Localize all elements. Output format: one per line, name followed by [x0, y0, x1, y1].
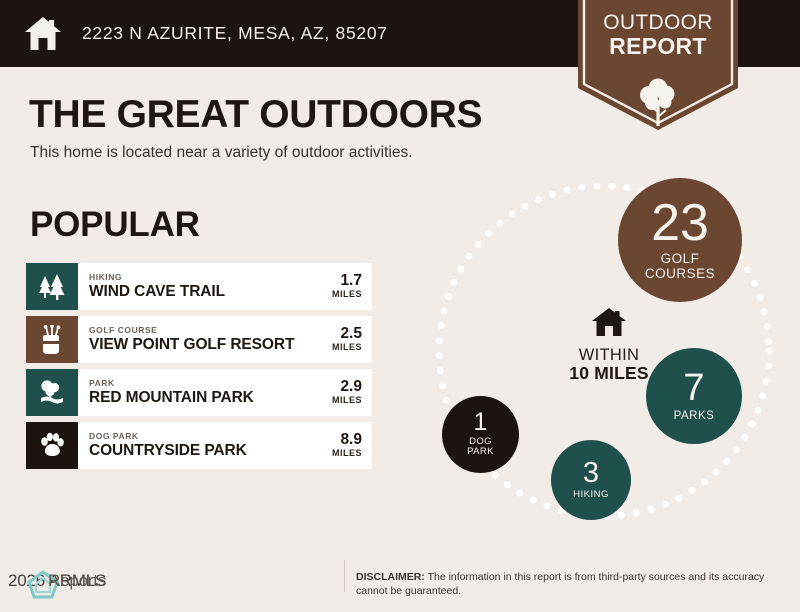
trees-icon	[37, 273, 67, 301]
list-item-distance-unit: MILES	[332, 289, 362, 301]
bubble-label-line-2: COURSES	[645, 266, 715, 281]
list-item-distance-unit: MILES	[332, 342, 362, 354]
home-icon	[529, 306, 689, 338]
list-item-category: HIKING	[89, 273, 296, 282]
list-item-icon-box	[26, 422, 78, 469]
disclaimer: DISCLAIMER: The information in this repo…	[356, 570, 776, 599]
bubble-label-line-1: GOLF	[661, 251, 700, 266]
diagram-center-label: WITHIN 10 MILES	[529, 306, 689, 384]
list-item-category: PARK	[89, 379, 296, 388]
list-item[interactable]: HIKING WIND CAVE TRAIL 1.7 MILES	[26, 263, 372, 310]
paw-print-icon	[38, 432, 66, 460]
bubble-hiking: 3 HIKING	[551, 440, 631, 520]
bubble-label-line-2: PARK	[467, 446, 494, 457]
outdoor-report-badge: OUTDOOR REPORT	[578, 0, 738, 130]
list-item-icon-box	[26, 316, 78, 363]
bubble-count: 23	[651, 199, 709, 248]
list-item-body: DOG PARK COUNTRYSIDE PARK	[78, 422, 296, 469]
list-item-distance: 8.9 MILES	[296, 422, 372, 469]
page-title: THE GREAT OUTDOORS	[29, 93, 482, 137]
brand-name: Reports	[48, 571, 106, 591]
list-item-distance: 2.9 MILES	[296, 369, 372, 416]
bubble-count: 1	[474, 411, 488, 435]
list-item-body: PARK RED MOUNTAIN PARK	[78, 369, 296, 416]
list-item-distance-unit: MILES	[332, 395, 362, 407]
list-item-distance-value: 2.9	[340, 379, 362, 395]
list-item-icon-box	[26, 263, 78, 310]
disclaimer-label: DISCLAIMER:	[356, 571, 425, 583]
list-item-distance-value: 2.5	[340, 326, 362, 342]
bubble-count: 3	[583, 460, 599, 488]
section-heading-popular: POPULAR	[30, 205, 200, 245]
list-item-name: COUNTRYSIDE PARK	[89, 443, 296, 459]
bubble-label: DOG PARK	[467, 437, 494, 458]
list-item-icon-box	[26, 369, 78, 416]
list-item-distance: 2.5 MILES	[296, 316, 372, 363]
footer-divider	[344, 560, 345, 592]
list-item-distance-value: 8.9	[340, 432, 362, 448]
center-label-line-2: 10 MILES	[529, 364, 689, 384]
home-icon	[22, 14, 64, 54]
list-item-category: GOLF COURSE	[89, 326, 296, 335]
bubble-label: PARKS	[674, 410, 715, 422]
list-item-name: RED MOUNTAIN PARK	[89, 390, 296, 406]
bubble-label: GOLF COURSES	[645, 252, 715, 281]
brand-block: 2026 ARMLS Reports	[8, 568, 338, 598]
popular-list: HIKING WIND CAVE TRAIL 1.7 MILES	[26, 263, 372, 475]
list-item-distance: 1.7 MILES	[296, 263, 372, 310]
park-tree-icon	[37, 380, 67, 406]
bubble-label: HIKING	[573, 490, 609, 500]
list-item[interactable]: GOLF COURSE VIEW POINT GOLF RESORT 2.5 M…	[26, 316, 372, 363]
list-item-body: GOLF COURSE VIEW POINT GOLF RESORT	[78, 316, 296, 363]
bubble-dog-park: 1 DOG PARK	[442, 396, 519, 473]
list-item-name: WIND CAVE TRAIL	[89, 284, 296, 300]
header-address: 2223 N AZURITE, MESA, AZ, 85207	[82, 23, 388, 44]
golf-bag-icon	[39, 325, 65, 355]
center-label-line-1: WITHIN	[529, 346, 689, 364]
bubble-golf-courses: 23 GOLF COURSES	[618, 178, 742, 302]
list-item-distance-value: 1.7	[340, 273, 362, 289]
list-item[interactable]: PARK RED MOUNTAIN PARK 2.9 MILES	[26, 369, 372, 416]
list-item-category: DOG PARK	[89, 432, 296, 441]
list-item-name: VIEW POINT GOLF RESORT	[89, 337, 296, 353]
list-item-body: HIKING WIND CAVE TRAIL	[78, 263, 296, 310]
within-10-miles-diagram: 23 GOLF COURSES 7 PARKS 3 HIKING 1 DOG P…	[420, 168, 800, 533]
list-item-distance-unit: MILES	[332, 448, 362, 460]
page-subtitle: This home is located near a variety of o…	[30, 144, 413, 162]
list-item[interactable]: DOG PARK COUNTRYSIDE PARK 8.9 MILES	[26, 422, 372, 469]
